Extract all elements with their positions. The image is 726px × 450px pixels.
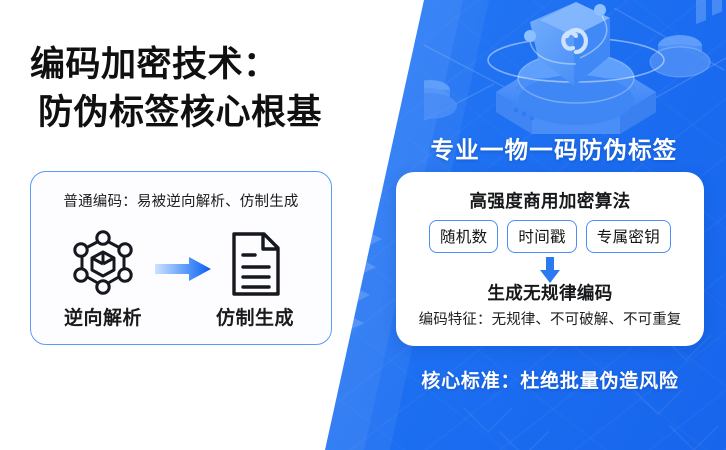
ordinary-coding-card: 普通编码：易被逆向解析、仿制生成 (30, 171, 332, 345)
encryption-card-feature: 编码特征：无规律、不可破解、不可重复 (396, 308, 704, 329)
page-title: 编码加密技术： 防伪标签核心根基 (30, 41, 400, 136)
headline-line-1: 编码加密技术： (30, 45, 279, 84)
document-lines-icon (207, 227, 303, 301)
column-reverse-analysis: 逆向解析 (55, 227, 151, 330)
isometric-shield-platform-icon (424, 0, 726, 136)
arrow-right-icon (155, 256, 211, 282)
encryption-factor-chips: 随机数 时间戳 专属密钥 (406, 220, 694, 253)
edge-chevron-1 (356, 226, 382, 252)
chip-random-number[interactable]: 随机数 (429, 220, 498, 253)
edge-chevron-2 (350, 254, 376, 280)
column-counterfeit-generation: 仿制生成 (207, 227, 303, 330)
column-counterfeit-generation-label: 仿制生成 (207, 303, 303, 330)
headline-line-2: 防伪标签核心根基 (30, 89, 400, 137)
infographic-banner: 编码加密技术： 防伪标签核心根基 普通编码：易被逆向解析、仿制生成 (0, 0, 726, 450)
column-reverse-analysis-label: 逆向解析 (55, 303, 151, 330)
edge-chevron-3 (344, 282, 370, 308)
panel-footer-standard: 核心标准：杜绝批量伪造风险 (396, 366, 704, 393)
hexagon-node-cube-icon (55, 227, 151, 301)
encryption-algorithm-card: 高强度商用加密算法 随机数 时间戳 专属密钥 生成无规律编码 编码特征：无规律、… (396, 172, 704, 346)
encryption-card-result: 生成无规律编码 (396, 280, 704, 305)
encryption-card-heading: 高强度商用加密算法 (396, 188, 704, 213)
ordinary-coding-card-title: 普通编码：易被逆向解析、仿制生成 (31, 190, 331, 211)
edge-chevron-4 (338, 310, 364, 336)
chip-timestamp[interactable]: 时间戳 (507, 220, 576, 253)
chip-exclusive-key[interactable]: 专属密钥 (586, 220, 671, 253)
panel-title: 专业一物一码防伪标签 (404, 131, 704, 165)
